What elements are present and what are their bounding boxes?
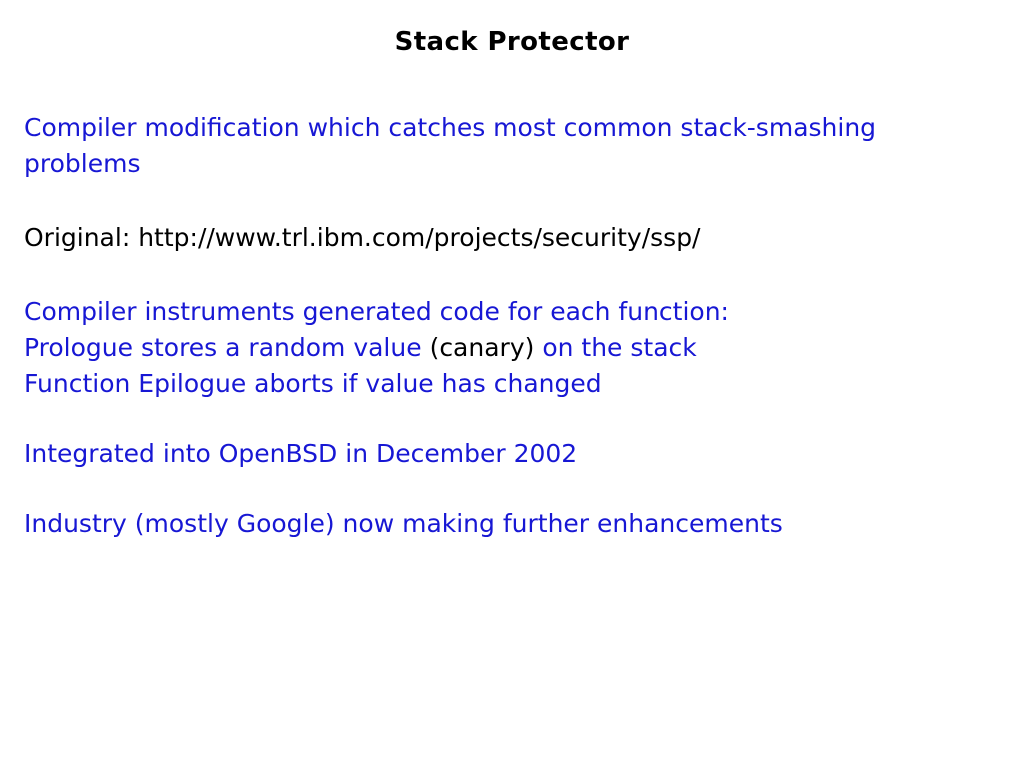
spacer bbox=[24, 472, 1000, 506]
bullet-function-epilogue: Function Epilogue aborts if value has ch… bbox=[24, 366, 1000, 402]
prologue-text-before: Prologue stores a random value bbox=[24, 333, 430, 362]
slide-canvas: Stack Protector Compiler modification wh… bbox=[0, 0, 1024, 768]
bullet-compiler-instruments: Compiler instruments generated code for … bbox=[24, 294, 1000, 330]
spacer bbox=[24, 182, 1000, 220]
bullet-compiler-modification: Compiler modification which catches most… bbox=[24, 110, 954, 182]
bullet-industry-enhancements: Industry (mostly Google) now making furt… bbox=[24, 506, 1000, 542]
slide-title: Stack Protector bbox=[0, 27, 1024, 57]
bullet-prologue-canary: Prologue stores a random value (canary) … bbox=[24, 330, 1000, 366]
spacer bbox=[24, 402, 1000, 436]
bullet-openbsd-integration: Integrated into OpenBSD in December 2002 bbox=[24, 436, 1000, 472]
spacer bbox=[24, 256, 1000, 294]
slide-body: Compiler modification which catches most… bbox=[24, 110, 1000, 542]
original-label: Original: bbox=[24, 223, 130, 252]
prologue-text-after: on the stack bbox=[534, 333, 696, 362]
bullet-original-url: Original: http://www.trl.ibm.com/project… bbox=[24, 220, 1000, 256]
original-url-text: http://www.trl.ibm.com/projects/security… bbox=[138, 223, 700, 252]
canary-term: (canary) bbox=[430, 333, 535, 362]
